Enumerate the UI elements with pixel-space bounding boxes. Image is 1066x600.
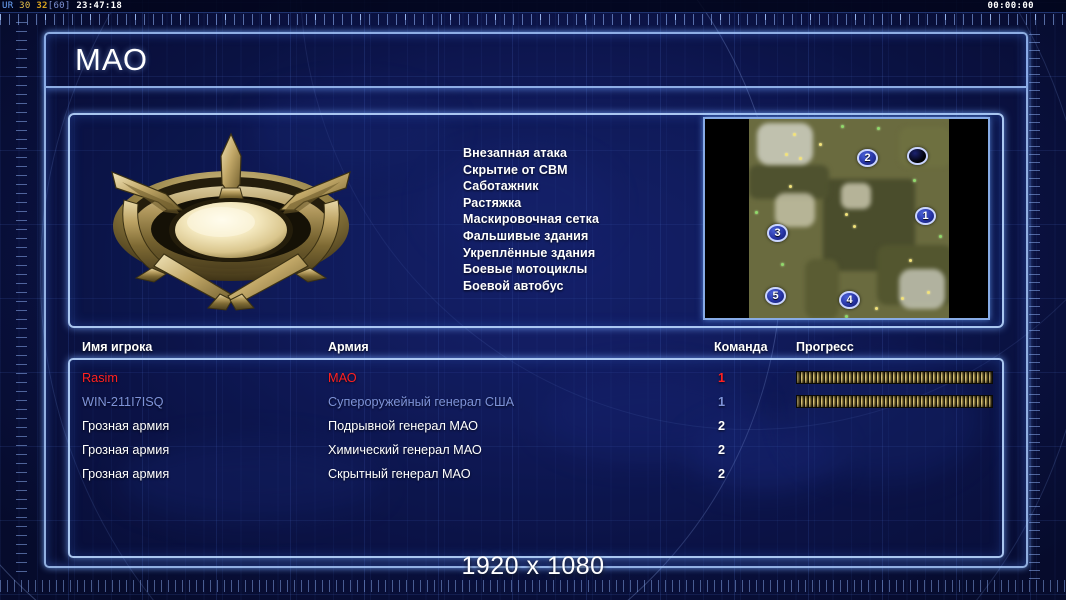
terrain-patch xyxy=(805,259,839,318)
map-resource-marker xyxy=(845,213,848,216)
map-resource-marker xyxy=(789,185,792,188)
cell-army: Подрывной генерал МАО xyxy=(328,419,478,433)
resolution-overlay: 1920 x 1080 xyxy=(0,552,1066,581)
start-position-marker[interactable] xyxy=(907,147,928,165)
perf-prefix: UR xyxy=(2,1,13,11)
ability-item: Растяжка xyxy=(463,195,713,212)
column-header-team: Команда xyxy=(714,340,768,354)
cell-army: Супероружейный генерал США xyxy=(328,395,514,409)
match-clock: 00:00:00 xyxy=(987,1,1066,11)
table-row[interactable]: WIN-211I7ISQСупероружейный генерал США1 xyxy=(68,390,1004,414)
map-tech-marker xyxy=(841,125,844,128)
ability-item: Маскировочная сетка xyxy=(463,211,713,228)
map-tech-marker xyxy=(781,263,784,266)
minimap[interactable]: 21354 xyxy=(703,117,990,320)
map-resource-marker xyxy=(799,157,802,160)
cell-player-name: Грозная армия xyxy=(82,419,169,433)
map-tech-marker xyxy=(913,179,916,182)
start-position-marker[interactable]: 4 xyxy=(839,291,860,309)
table-row[interactable]: Грозная армияХимический генерал МАО2 xyxy=(68,438,1004,462)
cell-army: Химический генерал МАО xyxy=(328,443,482,457)
map-tech-marker xyxy=(877,127,880,130)
cell-player-name: Грозная армия xyxy=(82,467,169,481)
cell-team: 1 xyxy=(718,395,725,409)
cell-army: Скрытный генерал МАО xyxy=(328,467,471,481)
ability-item: Боевой автобус xyxy=(463,278,713,295)
start-position-marker[interactable]: 1 xyxy=(915,207,936,225)
table-row[interactable]: Грозная армияСкрытный генерал МАО2 xyxy=(68,462,1004,486)
column-header-player: Имя игрока xyxy=(82,340,152,354)
minimap-terrain: 21354 xyxy=(749,119,949,318)
start-position-marker[interactable]: 2 xyxy=(857,149,878,167)
map-tech-marker xyxy=(755,211,758,214)
cell-army: МАО xyxy=(328,371,357,385)
map-resource-marker xyxy=(785,153,788,156)
perf-value-1: 30 xyxy=(19,1,30,11)
ability-item: Внезапная атака xyxy=(463,145,713,162)
terrain-patch xyxy=(899,269,945,309)
roster-header-row: Имя игрока Армия Команда Прогресс xyxy=(68,340,1004,360)
perf-value-2: 32 xyxy=(36,1,47,11)
page-title: МАО xyxy=(46,42,148,78)
title-bar: МАО xyxy=(46,34,1026,88)
map-resource-marker xyxy=(793,133,796,136)
perf-timestamp: 23:47:18 xyxy=(76,1,122,11)
terrain-patch xyxy=(757,123,813,165)
map-resource-marker xyxy=(909,259,912,262)
ability-item: Саботажник xyxy=(463,178,713,195)
terrain-patch xyxy=(775,193,815,227)
cell-team: 2 xyxy=(718,443,725,457)
progress-bar xyxy=(796,395,993,408)
cell-team: 1 xyxy=(718,371,725,385)
map-tech-marker xyxy=(939,235,942,238)
game-setup-screen: UR 30 32[60] 23:47:18 00:00:00 МАО xyxy=(0,0,1066,600)
performance-readout: UR 30 32[60] 23:47:18 xyxy=(0,1,122,11)
roster-rows: RasimМАО1WIN-211I7ISQСупероружейный гене… xyxy=(68,358,1004,558)
map-resource-marker xyxy=(853,225,856,228)
ability-item: Скрытие от СВМ xyxy=(463,162,713,179)
column-header-army: Армия xyxy=(328,340,369,354)
terrain-patch xyxy=(841,183,871,209)
start-position-marker[interactable]: 3 xyxy=(767,224,788,242)
column-header-progress: Прогресс xyxy=(796,340,854,354)
start-position-marker[interactable]: 5 xyxy=(765,287,786,305)
cell-player-name: WIN-211I7ISQ xyxy=(82,395,164,409)
status-bar: UR 30 32[60] 23:47:18 00:00:00 xyxy=(0,0,1066,13)
ability-item: Боевые мотоциклы xyxy=(463,261,713,278)
table-row[interactable]: RasimМАО1 xyxy=(68,366,1004,390)
cell-player-name: Rasim xyxy=(82,371,118,385)
map-resource-marker xyxy=(819,143,822,146)
gla-scorpion-emblem xyxy=(108,126,354,316)
ability-item: Укреплённые здания xyxy=(463,245,713,262)
map-tech-marker xyxy=(845,315,848,318)
map-resource-marker xyxy=(875,307,878,310)
perf-bracket: [60] xyxy=(48,1,71,11)
table-row[interactable]: Грозная армияПодрывной генерал МАО2 xyxy=(68,414,1004,438)
progress-bar xyxy=(796,371,993,384)
faction-abilities-list: Внезапная атака Скрытие от СВМ Саботажни… xyxy=(463,145,713,294)
cell-team: 2 xyxy=(718,467,725,481)
cell-team: 2 xyxy=(718,419,725,433)
ability-item: Фальшивые здания xyxy=(463,228,713,245)
map-resource-marker xyxy=(901,297,904,300)
cell-player-name: Грозная армия xyxy=(82,443,169,457)
map-resource-marker xyxy=(927,291,930,294)
